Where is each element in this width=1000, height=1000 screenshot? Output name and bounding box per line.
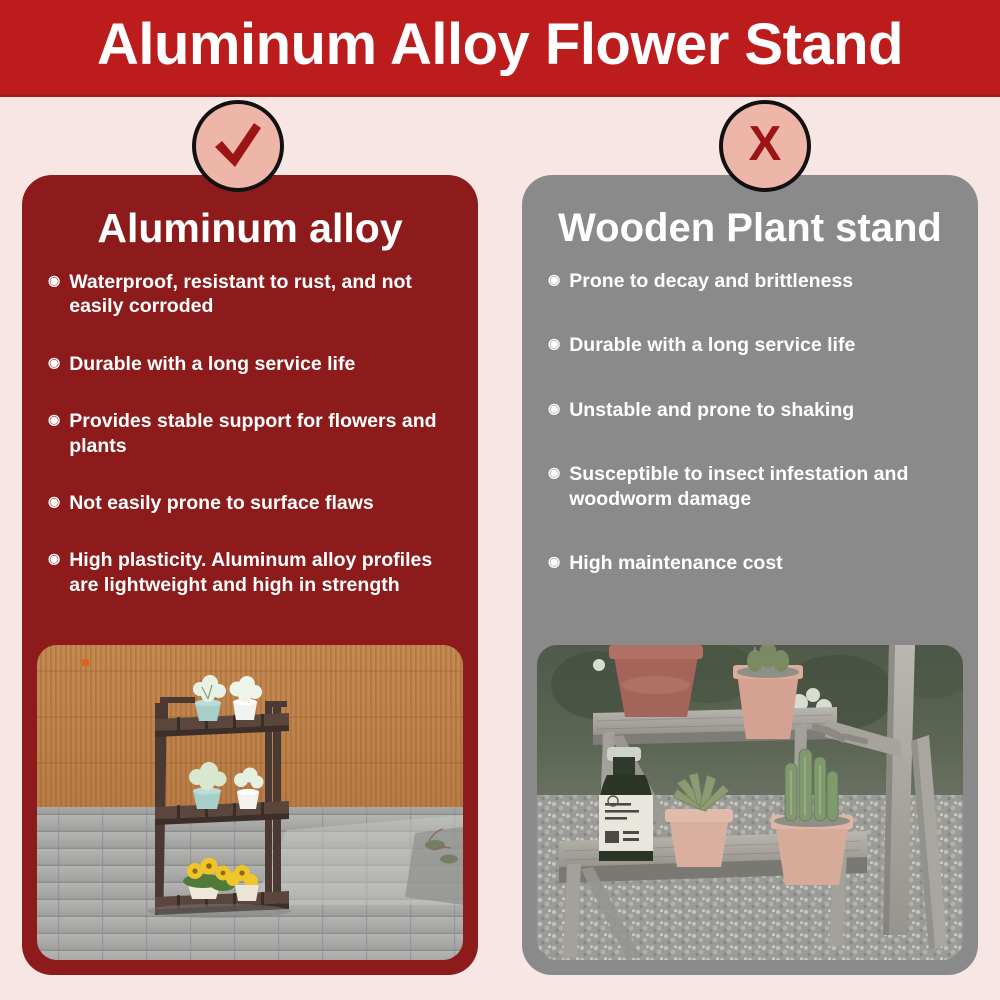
bullet-marker-icon: ◉ (48, 409, 60, 431)
aluminum-stand-photo-illustration (37, 645, 463, 960)
bullet-marker-icon: ◉ (48, 491, 60, 513)
bullet-marker-icon: ◉ (48, 352, 60, 374)
bullet-marker-icon: ◉ (548, 333, 560, 355)
list-item: ◉ Not easily prone to surface flaws (48, 491, 452, 515)
wooden-stand-photo-illustration (537, 645, 963, 960)
cons-bullet-list: ◉ Prone to decay and brittleness ◉ Durab… (522, 269, 978, 575)
header-bar: Aluminum Alloy Flower Stand (0, 0, 1000, 97)
list-item-label: High plasticity. Aluminum alloy profiles… (69, 548, 452, 597)
cross-badge: X (719, 100, 811, 192)
list-item-label: Durable with a long service life (69, 352, 452, 376)
cons-product-photo (537, 645, 963, 960)
pros-bullet-list: ◉ Waterproof, resistant to rust, and not… (22, 270, 478, 597)
list-item: ◉ Prone to decay and brittleness (548, 269, 952, 293)
check-icon (209, 117, 267, 175)
list-item: ◉ Susceptible to insect infestation and … (548, 462, 952, 511)
list-item: ◉ Durable with a long service life (548, 333, 952, 357)
list-item: ◉ Waterproof, resistant to rust, and not… (48, 270, 452, 319)
list-item-label: Not easily prone to surface flaws (69, 491, 452, 515)
bullet-marker-icon: ◉ (548, 398, 560, 420)
list-item-label: Durable with a long service life (569, 333, 952, 357)
check-badge (192, 100, 284, 192)
pros-product-photo (37, 645, 463, 960)
bullet-marker-icon: ◉ (548, 269, 560, 291)
list-item: ◉ Durable with a long service life (48, 352, 452, 376)
list-item-label: High maintenance cost (569, 551, 952, 575)
list-item-label: Prone to decay and brittleness (569, 269, 952, 293)
page-title: Aluminum Alloy Flower Stand (97, 16, 903, 78)
cons-card: Wooden Plant stand ◉ Prone to decay and … (522, 175, 978, 975)
pros-card: Aluminum alloy ◉ Waterproof, resistant t… (22, 175, 478, 975)
bullet-marker-icon: ◉ (548, 462, 560, 484)
list-item: ◉ High plasticity. Aluminum alloy profil… (48, 548, 452, 597)
bullet-marker-icon: ◉ (548, 551, 560, 573)
list-item: ◉ High maintenance cost (548, 551, 952, 575)
list-item-label: Unstable and prone to shaking (569, 398, 952, 422)
list-item: ◉ Unstable and prone to shaking (548, 398, 952, 422)
bullet-marker-icon: ◉ (48, 270, 60, 292)
bullet-marker-icon: ◉ (48, 548, 60, 570)
list-item-label: Waterproof, resistant to rust, and not e… (69, 270, 452, 319)
cross-icon: X (749, 120, 782, 172)
list-item: ◉ Provides stable support for flowers an… (48, 409, 452, 458)
list-item-label: Susceptible to insect infestation and wo… (569, 462, 952, 511)
list-item-label: Provides stable support for flowers and … (69, 409, 452, 458)
